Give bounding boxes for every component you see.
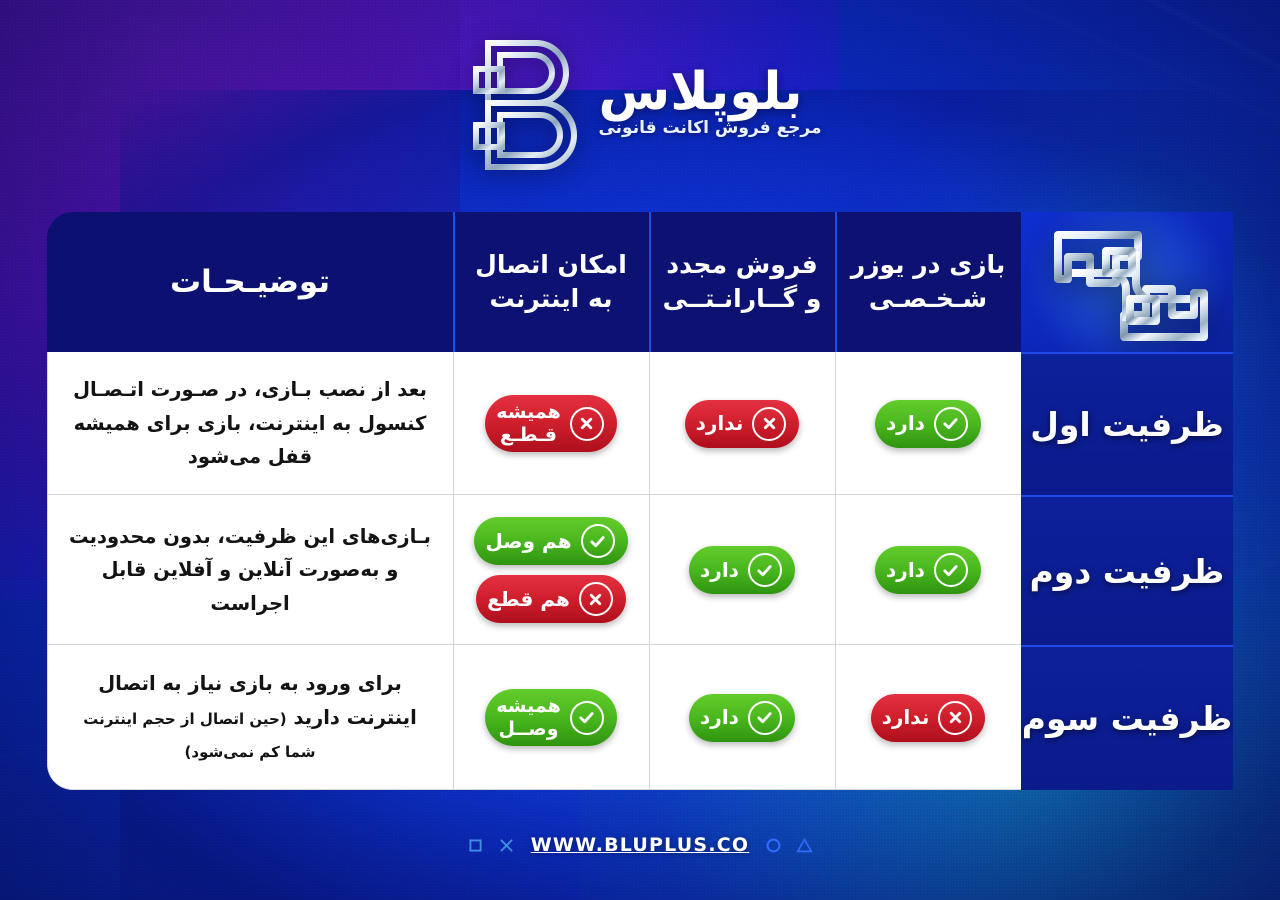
footer-right-icons <box>467 837 515 854</box>
footer: WWW.BLUPLUS.CO <box>0 828 1280 862</box>
status-badge: دارد <box>875 400 981 448</box>
capacity-label: ظرفیت دوم <box>1030 552 1225 591</box>
badge-stack: همیشه قـطـع <box>485 395 617 452</box>
cross-circle-icon <box>752 407 786 441</box>
cell-resale-warranty: دارد <box>649 645 835 790</box>
status-badge-label: ندارد <box>696 412 744 434</box>
status-badge-label: دارد <box>886 412 925 434</box>
cell-internet: همیشه قـطـع <box>453 352 649 495</box>
status-badge-label: دارد <box>700 706 739 728</box>
header-internet: امکان اتصال به اینترنت <box>453 212 649 352</box>
status-badge-label: هم وصل <box>485 530 571 552</box>
header-personal-user: بازی در یوزر شـخـصـی <box>835 212 1021 352</box>
header-resale-warranty: فروش مجدد و گــارانـتــی <box>649 212 835 352</box>
badge-stack: هم وصل هم قطع <box>474 517 627 623</box>
explanation-main: بعد از نصب بـازی، در صـورت اتـصـال کنسول… <box>73 378 427 468</box>
status-badge: هم وصل <box>474 517 627 565</box>
status-badge: دارد <box>689 694 795 742</box>
badge-stack: همیشه وصــل <box>485 689 617 746</box>
cell-personal-user: ندارد <box>835 645 1021 790</box>
status-badge: دارد <box>875 546 981 594</box>
check-circle-icon <box>748 553 782 587</box>
footer-website-link[interactable]: WWW.BLUPLUS.CO <box>531 834 749 856</box>
bluplus-chrome-logo-icon <box>1046 212 1216 352</box>
ps-triangle-icon <box>796 837 813 854</box>
check-circle-icon <box>581 524 615 558</box>
check-circle-icon <box>934 553 968 587</box>
status-badge: هم قطع <box>476 575 626 623</box>
status-badge-label: هم قطع <box>487 588 570 610</box>
header-explanations: توضیـحـات <box>47 212 453 352</box>
ps-cross-icon <box>498 837 515 854</box>
status-badge-label: ندارد <box>882 706 930 728</box>
status-badge-label: همیشه وصــل <box>496 695 561 740</box>
status-badge: ندارد <box>685 400 800 448</box>
status-badge: ندارد <box>871 694 986 742</box>
cross-circle-icon <box>570 407 604 441</box>
table-grid: بازی در یوزر شـخـصـی فروش مجدد و گــاران… <box>47 212 1233 790</box>
cross-circle-icon <box>938 701 972 735</box>
cell-explanation: بعد از نصب بـازی، در صـورت اتـصـال کنسول… <box>47 352 453 495</box>
table-logo-cell <box>1021 212 1233 352</box>
cell-internet: هم وصل هم قطع <box>453 495 649 645</box>
cell-explanation: برای ورود به بازی نیاز به اتصال اینترنت … <box>47 645 453 790</box>
capacity-label: ظرفیت اول <box>1030 405 1224 444</box>
status-badge-label: دارد <box>886 559 925 581</box>
table-row: ظرفیت سوم <box>1021 645 1233 790</box>
status-badge-label: دارد <box>700 559 739 581</box>
check-circle-icon <box>934 407 968 441</box>
check-circle-icon <box>570 701 604 735</box>
poster-canvas: بلوپلاس مرجع فروش اکانت قانونی <box>0 0 1280 900</box>
table-row: ظرفیت دوم <box>1021 495 1233 645</box>
comparison-table: بازی در یوزر شـخـصـی فروش مجدد و گــاران… <box>47 212 1233 790</box>
table-row: ظرفیت اول <box>1021 352 1233 495</box>
header-resale-warranty-label: فروش مجدد و گــارانـتــی <box>649 248 835 317</box>
explanation-text: بـازی‌های این ظرفیت، بدون محدودیت و به‌ص… <box>69 520 431 621</box>
ps-circle-icon <box>765 837 782 854</box>
status-badge-label: همیشه قـطـع <box>496 401 561 446</box>
status-badge: همیشه وصــل <box>485 689 617 746</box>
cell-personal-user: دارد <box>835 352 1021 495</box>
header-explanations-label: توضیـحـات <box>160 261 340 304</box>
explanation-note: (حین اتصال از حجم اینترنت شما کم نمی‌شود… <box>83 710 315 762</box>
capacity-label: ظرفیت سوم <box>1022 699 1232 738</box>
cell-resale-warranty: ندارد <box>649 352 835 495</box>
cell-personal-user: دارد <box>835 495 1021 645</box>
brand-header: بلوپلاس مرجع فروش اکانت قانونی <box>0 24 1280 184</box>
brand-tagline: مرجع فروش اکانت قانونی <box>598 120 821 137</box>
ps-square-icon <box>467 837 484 854</box>
brand-text-block: بلوپلاس مرجع فروش اکانت قانونی <box>598 66 821 143</box>
footer-left-icons <box>765 837 813 854</box>
cell-internet: همیشه وصــل <box>453 645 649 790</box>
bluplus-monogram-icon <box>458 29 588 179</box>
explanation-main: بـازی‌های این ظرفیت، بدون محدودیت و به‌ص… <box>69 525 431 615</box>
explanation-text: بعد از نصب بـازی، در صـورت اتـصـال کنسول… <box>69 373 431 474</box>
cell-resale-warranty: دارد <box>649 495 835 645</box>
header-personal-user-label: بازی در یوزر شـخـصـی <box>835 248 1021 317</box>
status-badge: همیشه قـطـع <box>485 395 617 452</box>
cross-circle-icon <box>579 582 613 616</box>
explanation-text: برای ورود به بازی نیاز به اتصال اینترنت … <box>69 667 431 768</box>
brand-name: بلوپلاس <box>598 66 802 118</box>
cell-explanation: بـازی‌های این ظرفیت، بدون محدودیت و به‌ص… <box>47 495 453 645</box>
check-circle-icon <box>748 701 782 735</box>
status-badge: دارد <box>689 546 795 594</box>
header-internet-label: امکان اتصال به اینترنت <box>453 248 649 317</box>
